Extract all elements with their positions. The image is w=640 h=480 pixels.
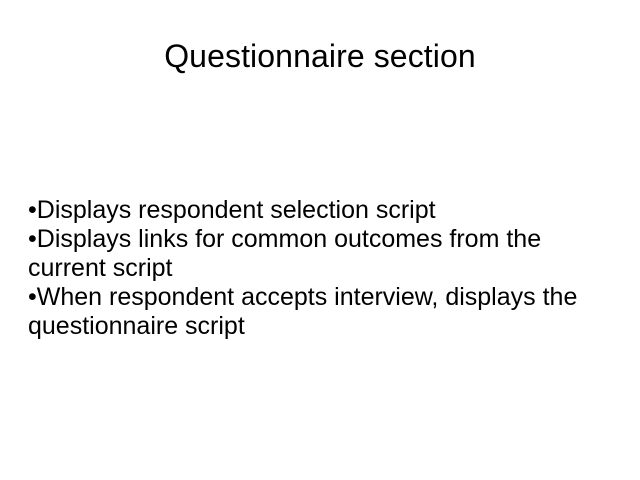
list-item: •When respondent accepts interview, disp… xyxy=(28,283,614,341)
slide: Questionnaire section •Displays responde… xyxy=(0,0,640,480)
slide-body: •Displays respondent selection script •D… xyxy=(28,196,614,341)
list-item: •Displays respondent selection script xyxy=(28,196,614,225)
bullet-point-icon: • xyxy=(28,196,37,224)
list-item-label: When respondent accepts interview, displ… xyxy=(28,283,577,340)
bullet-point-icon: • xyxy=(28,283,37,311)
list-item-label: Displays links for common outcomes from … xyxy=(28,225,541,282)
page-title: Questionnaire section xyxy=(0,36,640,76)
bullet-list: •Displays respondent selection script •D… xyxy=(28,196,614,341)
bullet-point-icon: • xyxy=(28,225,37,253)
list-item-label: Displays respondent selection script xyxy=(37,196,436,224)
list-item: •Displays links for common outcomes from… xyxy=(28,225,614,283)
